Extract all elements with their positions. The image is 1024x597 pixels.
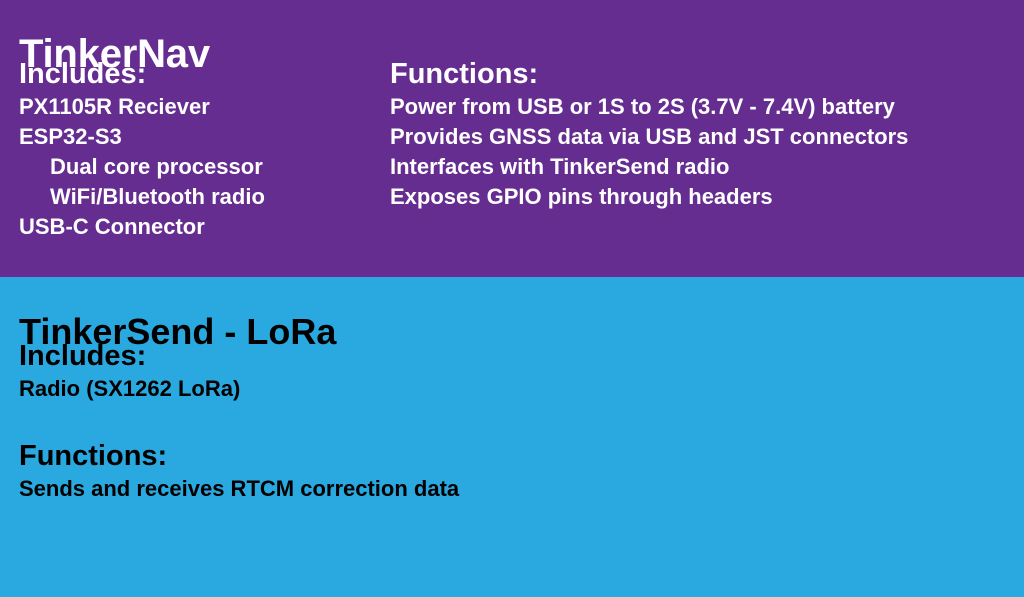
tinkernav-includes-list: PX1105R Reciever ESP32-S3 Dual core proc…: [19, 92, 379, 242]
tinkernav-functions-heading: Functions:: [390, 56, 1010, 92]
tinkersend-panel: TinkerSend - LoRa Includes: Radio (SX126…: [0, 277, 1024, 597]
tinkernav-panel: TinkerNav Includes: PX1105R Reciever ESP…: [0, 0, 1024, 277]
tinkersend-includes-list: Radio (SX1262 LoRa): [19, 374, 719, 404]
list-item: Sends and receives RTCM correction data: [19, 474, 719, 504]
tinkersend-includes-block: Includes: Radio (SX1262 LoRa): [19, 338, 719, 404]
list-item: Power from USB or 1S to 2S (3.7V - 7.4V)…: [390, 92, 1010, 122]
tinkernav-includes-column: Includes: PX1105R Reciever ESP32-S3 Dual…: [19, 56, 379, 242]
tinkernav-functions-column: Functions: Power from USB or 1S to 2S (3…: [390, 56, 1010, 212]
tinkersend-includes-heading: Includes:: [19, 338, 719, 374]
list-item: Dual core processor: [19, 152, 379, 182]
list-item: Provides GNSS data via USB and JST conne…: [390, 122, 1010, 152]
list-item: USB-C Connector: [19, 212, 379, 242]
tinkernav-functions-list: Power from USB or 1S to 2S (3.7V - 7.4V)…: [390, 92, 1010, 212]
list-item: Exposes GPIO pins through headers: [390, 182, 1010, 212]
tinkersend-functions-block: Functions: Sends and receives RTCM corre…: [19, 438, 719, 504]
list-item: Interfaces with TinkerSend radio: [390, 152, 1010, 182]
tinkernav-includes-heading: Includes:: [19, 56, 379, 92]
list-item: Radio (SX1262 LoRa): [19, 374, 719, 404]
list-item: WiFi/Bluetooth radio: [19, 182, 379, 212]
list-item: ESP32-S3: [19, 122, 379, 152]
slide-root: TinkerNav Includes: PX1105R Reciever ESP…: [0, 0, 1024, 597]
tinkersend-functions-list: Sends and receives RTCM correction data: [19, 474, 719, 504]
list-item: PX1105R Reciever: [19, 92, 379, 122]
tinkersend-functions-heading: Functions:: [19, 438, 719, 474]
